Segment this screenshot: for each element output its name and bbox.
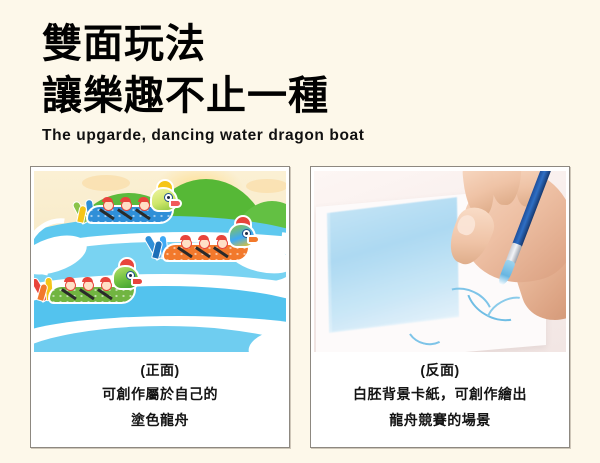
painting-scene	[314, 171, 566, 352]
dragon-head-icon	[226, 219, 260, 253]
dragon-head-icon	[148, 183, 182, 217]
cloud-tint-icon	[82, 175, 130, 191]
heading-block: 雙面玩法 讓樂趣不止一種 The upgarde, dancing water …	[42, 20, 562, 145]
rower-figure	[120, 197, 131, 209]
rower-figure	[64, 277, 75, 289]
card-back-side: (反面) 白胚背景卡紙，可創作繪出 龍舟競賽的場景	[310, 166, 570, 448]
caption-face-label: (正面)	[35, 359, 285, 381]
card-front-side: (正面) 可創作屬於自己的 塗色龍舟	[30, 166, 290, 448]
page-title-line-2: 讓樂趣不止一種	[42, 72, 562, 121]
dragon-head-icon	[110, 261, 144, 295]
cloud-tint-icon	[246, 179, 286, 193]
card-row: (正面) 可創作屬於自己的 塗色龍舟	[30, 166, 570, 448]
dragon-boat-illustration	[34, 171, 286, 352]
rower-figure	[180, 235, 191, 247]
caption-desc-line-1: 可創作屬於自己的	[35, 381, 285, 407]
illustration-canvas	[34, 171, 286, 352]
promo-page: 雙面玩法 讓樂趣不止一種 The upgarde, dancing water …	[0, 0, 600, 463]
hand-painting-photo	[314, 171, 566, 352]
rower-figure	[102, 197, 113, 209]
rower-figure	[82, 277, 93, 289]
caption-desc-line-2: 塗色龍舟	[35, 407, 285, 433]
rower-figure	[198, 235, 209, 247]
caption-block: (正面) 可創作屬於自己的 塗色龍舟	[35, 352, 285, 433]
page-title-line-1: 雙面玩法	[42, 20, 562, 69]
page-subtitle: The upgarde, dancing water dragon boat	[42, 127, 562, 145]
caption-desc-line-1: 白胚背景卡紙，可創作繪出	[315, 381, 565, 407]
caption-face-label: (反面)	[315, 359, 565, 381]
caption-desc-line-2: 龍舟競賽的場景	[315, 407, 565, 433]
hand	[434, 171, 566, 331]
caption-block: (反面) 白胚背景卡紙，可創作繪出 龍舟競賽的場景	[315, 352, 565, 433]
